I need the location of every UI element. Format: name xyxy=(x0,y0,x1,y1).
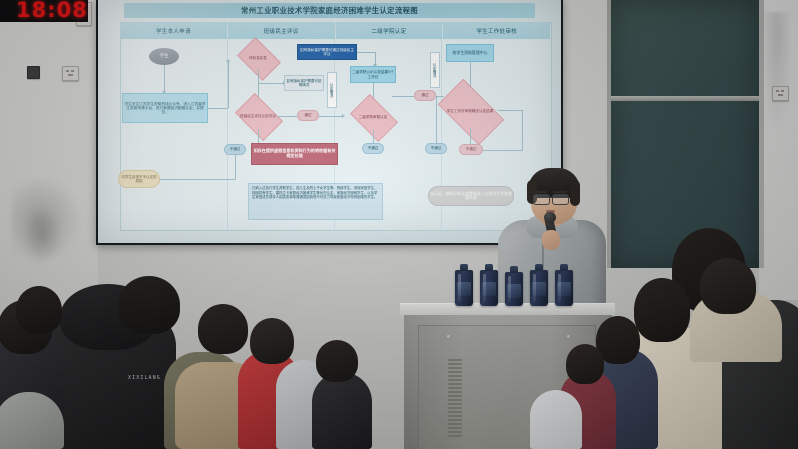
microphone-head-icon xyxy=(544,212,556,223)
edge-college-pass xyxy=(392,96,414,97)
audience-person-olive-head xyxy=(118,276,180,334)
classroom-presentation-scene: 常州工业职业技术学院家庭经济困难学生认定流程图 学生本人申请 班级民主评议 二级… xyxy=(0,0,798,449)
node-appeal-status-2: 认定情况 xyxy=(430,52,440,88)
edge-to-reject xyxy=(160,179,236,180)
bottle-5-cap xyxy=(560,264,568,271)
node-funding-center: 校学生资助管理中心 xyxy=(446,44,494,62)
edge-start-to-apply xyxy=(164,65,165,92)
bottle-4-cap xyxy=(535,264,543,271)
wall-outlet-right xyxy=(772,86,789,101)
bottle-1-cap xyxy=(460,264,468,271)
node-class-democratic-review: 班级民主评议认定评议 xyxy=(239,103,277,129)
bottle-3-cap xyxy=(510,266,518,273)
wall-switch-dark xyxy=(27,66,40,79)
node-material-authenticity-label: 材料真实性 xyxy=(241,46,275,70)
edge-audit-loop-h xyxy=(483,150,523,151)
node-reject-feedback: 向学生反馈不予认定的原因 xyxy=(118,170,160,188)
edge-apply-up xyxy=(228,62,229,108)
presenter-brow-left xyxy=(533,191,547,193)
bottle-3-highlight xyxy=(508,276,511,302)
right-wall-marks xyxy=(762,12,792,132)
node-pass-1: 通过 xyxy=(297,110,319,121)
arrowhead-5 xyxy=(342,114,345,118)
flowchart-column-headers: 学生本人申请 班级民主评议 二级学院认定 学生工作处审核 xyxy=(120,22,550,39)
bottle-2 xyxy=(480,270,498,306)
node-class-democratic-review-label: 班级民主评议认定评议 xyxy=(239,103,277,129)
edge-audit-loop xyxy=(498,110,522,111)
node-privacy-note: 如有隐私保护需要可说明情况 xyxy=(284,75,324,91)
audience-person-red-head xyxy=(198,304,248,354)
bottle-1 xyxy=(455,270,473,306)
edge-banner-right xyxy=(357,52,375,53)
slide-flowchart: 常州工业职业技术学院家庭经济困难学生认定流程图 学生本人申请 班级民主评议 二级… xyxy=(98,0,561,243)
audience-person-cream-head xyxy=(634,278,690,342)
node-college-review-label: 二级学院审核认定 xyxy=(354,104,392,130)
audience-person-grey-mid-head xyxy=(250,318,294,364)
node-privacy-banner: 如有隐私保护需要可通过班级民主评议 xyxy=(297,44,357,60)
bottle-5-highlight xyxy=(558,274,561,302)
audience-person-maroon-head xyxy=(566,344,604,384)
audience-person-white-right-body xyxy=(530,390,582,449)
edge-audit-loop-v xyxy=(522,110,523,150)
wall-outlet-left xyxy=(62,66,79,81)
timestamp-overlay: 18:08 xyxy=(16,0,88,22)
wall-scuff-mark-2 xyxy=(22,208,62,263)
bottle-2-highlight xyxy=(483,274,486,302)
eyeglasses-left-lens xyxy=(533,194,550,205)
node-start-student: 学生 xyxy=(149,48,179,65)
edge-vote-pass xyxy=(277,116,297,117)
audience-person-left-edge2-head xyxy=(16,286,62,334)
column-header-student-apply: 学生本人申请 xyxy=(120,22,228,39)
edge-pass1-right xyxy=(319,116,343,117)
edge-apply-right xyxy=(208,108,228,109)
node-fail-4: 不通过 xyxy=(459,144,483,155)
arrowhead-2 xyxy=(226,59,230,62)
projection-screen-frame: 常州工业职业技术学院家庭经济困难学生认定流程图 学生本人申请 班级民主评议 二级… xyxy=(96,0,563,245)
edge-pass2-to-audit xyxy=(436,96,444,97)
presenter-hair-right xyxy=(570,180,580,206)
presenter-brow-right xyxy=(553,191,567,193)
edge-auth-privacy xyxy=(258,83,284,84)
chalkboard xyxy=(611,0,764,268)
column-header-office-audit: 学生工作处审核 xyxy=(443,22,550,39)
bottle-4 xyxy=(530,270,548,306)
node-material-authenticity: 材料真实性 xyxy=(241,46,275,70)
node-fail-3: 不通过 xyxy=(425,143,447,154)
projection-screen: 常州工业职业技术学院家庭经济困难学生认定流程图 学生本人申请 班级民主评议 二级… xyxy=(98,0,561,243)
edge-fail1-down-2 xyxy=(235,155,236,179)
column-header-class-review: 班级民主评议 xyxy=(228,22,336,39)
node-college-review: 二级学院审核认定 xyxy=(354,104,392,130)
eyeglasses-right-lens xyxy=(552,194,569,205)
bottle-5 xyxy=(555,270,573,306)
edge-side-down xyxy=(436,96,437,148)
audience-person-tan-head xyxy=(700,258,756,314)
bottle-4-highlight xyxy=(533,274,536,302)
node-office-audit: 学生工作处审核确定认定结果 xyxy=(442,94,498,128)
audience-person-dark-right-body xyxy=(312,372,372,449)
bottle-2-cap xyxy=(485,264,493,271)
node-priority-footnote: 已纳入过执行学生资助学生、孤儿生及烈士子女学生等、残疾学生、低保家庭学生、特困供… xyxy=(248,183,383,220)
node-fail-2: 不通过 xyxy=(362,143,384,154)
node-pass-2: 通过 xyxy=(414,90,436,101)
bottle-1-highlight xyxy=(458,274,461,302)
jacket-brand-text: XIXILANG xyxy=(128,375,161,381)
node-student-application: 学生关注江苏学生资助热线公众号，进入江苏省学生资助申请平台，进行家庭经济困难认定… xyxy=(122,93,208,123)
slide-title: 常州工业职业技术学院家庭经济困难学生认定流程图 xyxy=(124,3,535,18)
node-college-publicity: 二级学院公示认定结果5个工作日 xyxy=(350,66,396,83)
node-false-info-warning: 如存在提供虚假信息和资料行为的将依据有关规定处理 xyxy=(251,143,338,165)
column-header-college-confirm: 二级学院认定 xyxy=(336,22,444,39)
node-office-audit-label: 学生工作处审核确定认定结果 xyxy=(442,94,498,128)
node-appeal-status-1: 认定情况 xyxy=(327,72,337,108)
chalkboard-rail xyxy=(611,96,759,101)
bottle-3 xyxy=(505,272,523,306)
audience-person-dark-right-head xyxy=(316,340,358,382)
eyeglasses-bridge xyxy=(548,197,553,198)
